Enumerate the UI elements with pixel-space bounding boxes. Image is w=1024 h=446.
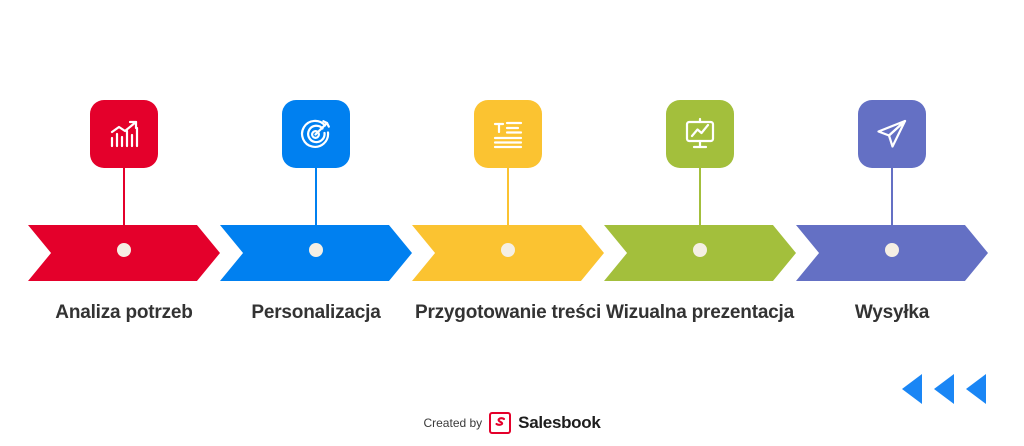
step-icon-tile[interactable]: [666, 100, 734, 168]
step-marker-dot: [309, 243, 323, 257]
presentation-chart-icon: [682, 116, 718, 152]
salesbook-wordmark: Salesbook: [518, 413, 600, 433]
step-icon-tile[interactable]: [90, 100, 158, 168]
credit-prefix-label: Created by: [423, 416, 482, 430]
process-step: Przygotowanie treści: [412, 0, 604, 370]
step-connector-stem: [507, 168, 509, 230]
step-label: Personalizacja: [220, 300, 412, 326]
step-icon-tile[interactable]: [474, 100, 542, 168]
nav-arrow-previous[interactable]: [966, 374, 986, 404]
salesbook-logo-icon: [489, 412, 511, 434]
step-marker-dot: [117, 243, 131, 257]
step-connector-stem: [699, 168, 701, 230]
nav-arrow-previous[interactable]: [902, 374, 922, 404]
process-flow-diagram: Analiza potrzebPersonalizacjaPrzygotowan…: [0, 0, 1024, 370]
text-document-icon: [491, 117, 525, 151]
step-connector-stem: [315, 168, 317, 230]
step-label: Analiza potrzeb: [28, 300, 220, 326]
step-label: Wysyłka: [796, 300, 988, 326]
step-icon-tile[interactable]: [858, 100, 926, 168]
process-step: Personalizacja: [220, 0, 412, 370]
process-step: Wysyłka: [796, 0, 988, 370]
nav-arrow-previous[interactable]: [934, 374, 954, 404]
step-connector-stem: [891, 168, 893, 230]
process-step: Wizualna prezentacja: [604, 0, 796, 370]
step-marker-dot: [885, 243, 899, 257]
target-dart-icon: [298, 116, 334, 152]
credit-footer: Created by Salesbook: [0, 412, 1024, 434]
step-connector-stem: [123, 168, 125, 230]
step-marker-dot: [693, 243, 707, 257]
process-step: Analiza potrzeb: [28, 0, 220, 370]
paper-plane-send-icon: [874, 116, 910, 152]
step-label: Wizualna prezentacja: [604, 300, 796, 326]
step-icon-tile[interactable]: [282, 100, 350, 168]
bar-chart-growth-icon: [106, 116, 142, 152]
step-label: Przygotowanie treści: [412, 300, 604, 326]
navigation-arrows[interactable]: [902, 374, 986, 404]
step-marker-dot: [501, 243, 515, 257]
